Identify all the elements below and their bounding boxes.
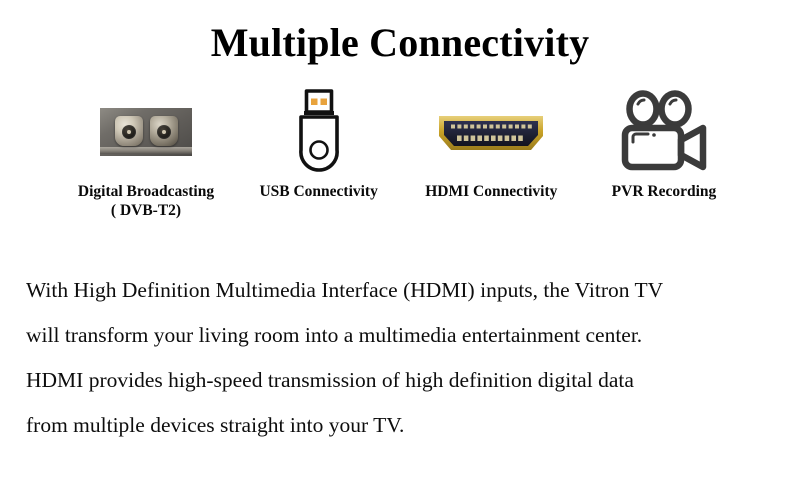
body-highlight-dot — [652, 133, 656, 137]
feature-label-usb-connectivity: USB Connectivity — [259, 182, 377, 201]
coaxial-rf-connectors-photo-icon — [100, 108, 192, 156]
page-root: Multiple Connectivity Digital Broadca — [0, 0, 800, 489]
coax-jack-pin — [127, 130, 131, 134]
body-line-2: will transform your living room into a m… — [26, 313, 778, 358]
icon-slot-digital-broadcasting — [100, 86, 192, 178]
page-title: Multiple Connectivity — [0, 20, 800, 66]
feature-digital-broadcasting: Digital Broadcasting ( DVB-T2) — [60, 86, 232, 220]
body-paragraph: With High Definition Multimedia Interfac… — [26, 268, 778, 448]
coax-jack-pin — [162, 130, 166, 134]
icon-slot-pvr — [618, 86, 710, 178]
panel-edge — [100, 147, 192, 154]
body-line-4: from multiple devices straight into your… — [26, 403, 778, 448]
reel-highlight-left — [638, 100, 644, 104]
body-line-3: HDMI provides high-speed transmission of… — [26, 358, 778, 403]
feature-usb-connectivity: USB Connectivity — [233, 86, 405, 201]
feature-label-pvr-recording: PVR Recording — [612, 182, 717, 201]
usb-flash-drive-icon — [289, 88, 349, 176]
icon-slot-usb — [289, 86, 349, 178]
connectivity-feature-row: Digital Broadcasting ( DVB-T2) USB C — [60, 86, 750, 220]
feature-pvr-recording: PVR Recording — [578, 86, 750, 201]
body-line-1: With High Definition Multimedia Interfac… — [26, 268, 778, 313]
video-camera-icon — [618, 90, 710, 174]
reel-highlight-right — [670, 100, 676, 104]
feature-hdmi-connectivity: HDMI Connectivity — [405, 86, 577, 201]
coax-jack-right — [150, 116, 178, 146]
feature-label-digital-broadcasting: Digital Broadcasting ( DVB-T2) — [78, 182, 214, 220]
icon-slot-hdmi — [437, 86, 545, 178]
feature-label-hdmi-connectivity: HDMI Connectivity — [425, 182, 557, 201]
coax-jack-left — [115, 116, 143, 146]
body-highlight — [633, 134, 648, 142]
hdmi-connector-icon — [437, 106, 545, 158]
